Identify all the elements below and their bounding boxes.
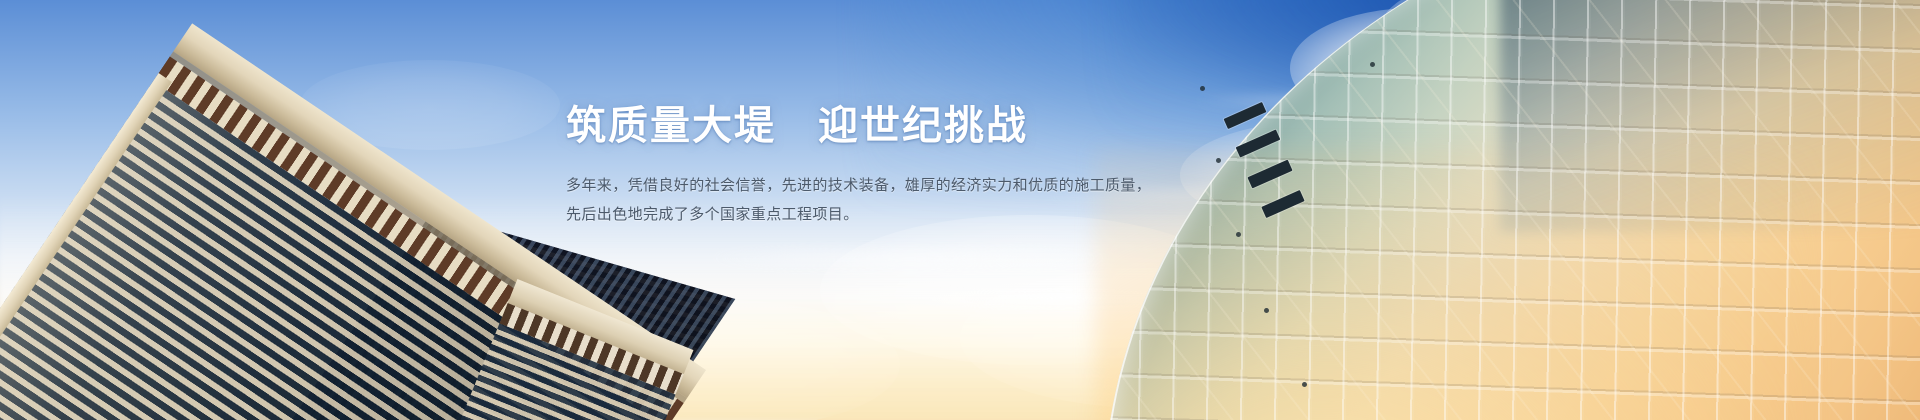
facade-fixing-dot: [1216, 158, 1221, 163]
curved-glass-building: [1040, 0, 1920, 420]
facade-fixing-dot: [1236, 232, 1241, 237]
banner-copy: 筑质量大堤 迎世纪挑战 多年来，凭借良好的社会信誉，先进的技术装备，雄厚的经济实…: [566, 104, 1126, 229]
facade-fixing-dot: [1302, 382, 1307, 387]
banner-subtitle-line-2: 先后出色地完成了多个国家重点工程项目。: [566, 200, 1126, 229]
hero-banner: 筑质量大堤 迎世纪挑战 多年来，凭借良好的社会信誉，先进的技术装备，雄厚的经济实…: [0, 0, 1920, 420]
banner-subtitle-line-1: 多年来，凭借良好的社会信誉，先进的技术装备，雄厚的经济实力和优质的施工质量，: [566, 171, 1126, 200]
facade-fixing-dot: [1264, 308, 1269, 313]
banner-headline: 筑质量大堤 迎世纪挑战: [566, 104, 1126, 149]
facade-fixing-dot: [1200, 86, 1205, 91]
banner-subtitle: 多年来，凭借良好的社会信誉，先进的技术装备，雄厚的经济实力和优质的施工质量， 先…: [566, 171, 1126, 230]
facade-fixing-dot: [1370, 62, 1375, 67]
